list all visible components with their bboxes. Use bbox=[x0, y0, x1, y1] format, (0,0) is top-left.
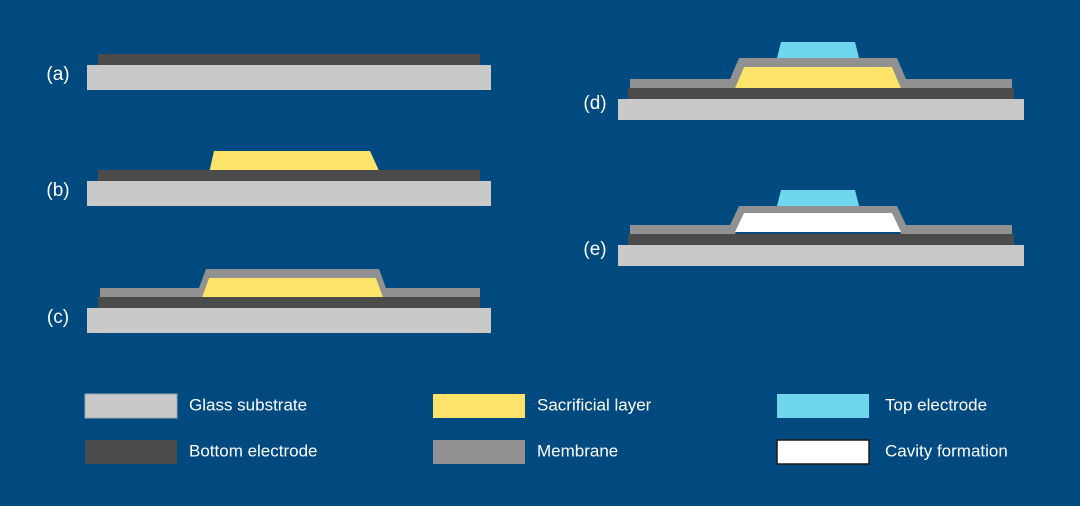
panel-a-glass-substrate bbox=[87, 65, 491, 90]
legend-label-top-electrode: Top electrode bbox=[885, 395, 987, 414]
legend-item-membrane: Membrane bbox=[433, 440, 618, 464]
legend: Glass substrate Bottom electrode Sacrifi… bbox=[85, 394, 1008, 464]
panel-c: (c) bbox=[47, 269, 491, 333]
panel-d-glass-substrate bbox=[618, 99, 1024, 120]
legend-swatch-sacrificial-layer bbox=[433, 394, 525, 418]
legend-label-membrane: Membrane bbox=[537, 441, 618, 460]
panel-e-top-electrode bbox=[777, 190, 859, 206]
panel-e-bottom-electrode bbox=[628, 234, 1014, 245]
panel-a-label: (a) bbox=[46, 64, 69, 85]
legend-swatch-top-electrode bbox=[777, 394, 869, 418]
panel-d-top-electrode bbox=[777, 42, 859, 58]
legend-item-cavity-formation: Cavity formation bbox=[777, 440, 1008, 464]
legend-swatch-cavity-formation bbox=[777, 440, 869, 464]
legend-item-glass-substrate: Glass substrate bbox=[85, 394, 307, 418]
legend-label-glass-substrate: Glass substrate bbox=[189, 395, 307, 414]
panel-e-label: (e) bbox=[583, 239, 606, 260]
panel-d-bottom-electrode bbox=[628, 88, 1014, 99]
panel-b: (b) bbox=[46, 151, 491, 206]
legend-label-bottom-electrode: Bottom electrode bbox=[189, 441, 318, 460]
panel-b-label: (b) bbox=[46, 180, 69, 201]
panel-b-bottom-electrode bbox=[98, 170, 480, 181]
panel-e-glass-substrate bbox=[618, 245, 1024, 266]
legend-swatch-bottom-electrode bbox=[85, 440, 177, 464]
legend-item-bottom-electrode: Bottom electrode bbox=[85, 440, 318, 464]
panel-c-sacrificial-layer bbox=[202, 278, 383, 297]
panel-d-sacrificial-layer bbox=[735, 67, 901, 88]
panel-e: (e) bbox=[583, 190, 1024, 266]
figure-canvas: (a) (b) (c) (d) bbox=[0, 0, 1080, 506]
process-flow-diagram: (a) (b) (c) (d) bbox=[0, 0, 1080, 506]
legend-swatch-glass-substrate bbox=[85, 394, 177, 418]
legend-item-top-electrode: Top electrode bbox=[777, 394, 987, 418]
panel-b-sacrificial-layer bbox=[209, 151, 380, 173]
panel-b-glass-substrate bbox=[87, 181, 491, 206]
panel-d-label: (d) bbox=[583, 93, 606, 114]
legend-swatch-membrane bbox=[433, 440, 525, 464]
legend-item-sacrificial-layer: Sacrificial layer bbox=[433, 394, 652, 418]
panel-d: (d) bbox=[583, 42, 1024, 120]
panel-c-glass-substrate bbox=[87, 308, 491, 333]
legend-label-sacrificial-layer: Sacrificial layer bbox=[537, 395, 652, 414]
panel-c-label: (c) bbox=[47, 307, 69, 328]
panel-a-bottom-electrode bbox=[98, 54, 480, 65]
legend-label-cavity-formation: Cavity formation bbox=[885, 441, 1008, 460]
panel-a: (a) bbox=[46, 54, 491, 90]
panel-e-cavity bbox=[735, 213, 901, 232]
panel-c-bottom-electrode bbox=[98, 297, 480, 308]
